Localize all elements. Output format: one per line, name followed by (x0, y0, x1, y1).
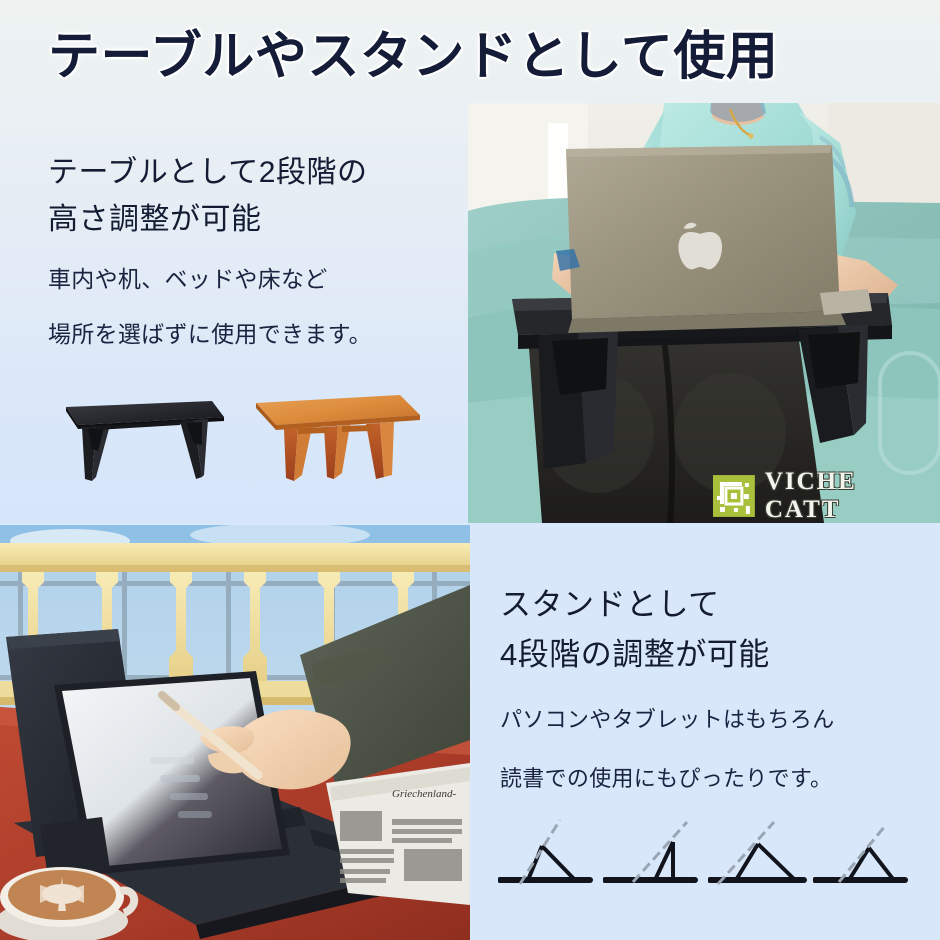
stand-angle-diagrams (498, 818, 918, 898)
watermark-text: VICHE CATT (765, 468, 940, 524)
table-sub-line2: 場所を選ばずに使用できます。 (48, 316, 448, 353)
table-product-thumbnails (52, 385, 432, 490)
stand-lead-line2: 4段階の調整が可能 (500, 630, 920, 680)
stand-angle-step-1 (498, 818, 603, 898)
stand-sub-line1: パソコンやタブレットはもちろん (500, 702, 920, 738)
tablet-on-stand-cafe-photo: Griechenland- (0, 525, 470, 940)
table-feature-text: テーブルとして2段階の 高さ調整が可能 車内や机、ベッドや床など 場所を選ばずに… (48, 150, 448, 354)
stand-angle-step-4 (813, 818, 918, 898)
stand-feature-text: スタンドとして 4段階の調整が可能 パソコンやタブレットはもちろん 読書での使用… (500, 580, 920, 797)
table-lead-line2: 高さ調整が可能 (48, 197, 448, 244)
black-folding-table-image (52, 385, 227, 490)
stand-lead-line1: スタンドとして (500, 580, 920, 630)
wooden-folding-table-image (250, 385, 425, 490)
product-infographic: テーブルやスタンドとして使用 テーブルとして2段階の 高さ調整が可能 車内や机、… (0, 0, 940, 940)
newspaper-headline: Griechenland- (392, 788, 456, 800)
table-sub-line1: 車内や机、ベッドや床など (48, 261, 448, 298)
page-title: テーブルやスタンドとして使用 (48, 28, 778, 86)
stand-angle-step-3 (708, 818, 813, 898)
table-lead-line1: テーブルとして2段階の (48, 150, 448, 197)
stand-angle-step-2 (603, 818, 708, 898)
viche-catt-logo-icon (712, 474, 756, 518)
stand-sub-line2: 読書での使用にもぴったりです。 (500, 761, 920, 797)
watermark: VICHE CATT (712, 468, 940, 524)
laptop-on-lap-table-photo (468, 103, 940, 523)
